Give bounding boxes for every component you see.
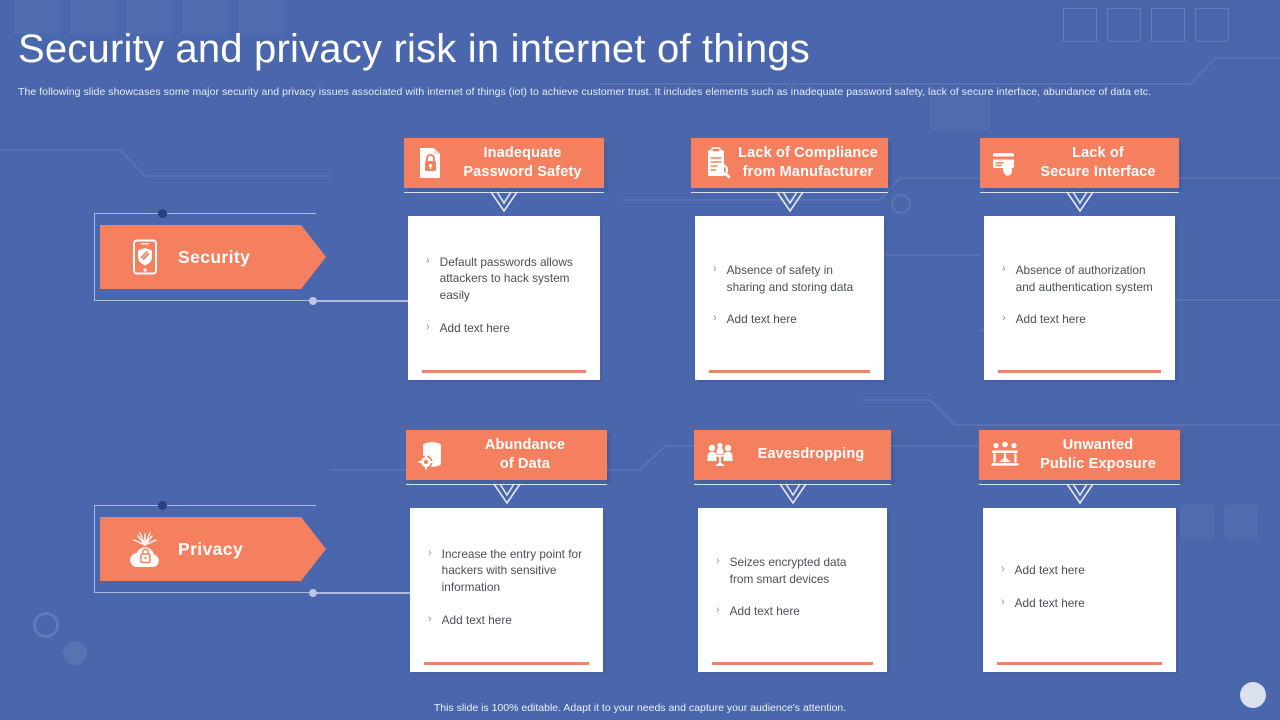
list-item-text: Add text here	[730, 603, 800, 620]
list-item-text: Default passwords allows attackers to ha…	[440, 254, 586, 304]
list-item: › Add text here	[1001, 562, 1162, 579]
card-header[interactable]: Inadequate Password Safety	[404, 138, 604, 188]
list-item: › Absence of safety in sharing and stori…	[713, 262, 870, 296]
background-square-1	[1063, 8, 1097, 42]
chevron-down-icon	[490, 482, 524, 506]
list-item-text: Seizes encrypted data from smart devices	[730, 554, 873, 588]
card-title-line-2: Password Safety	[463, 164, 581, 180]
card-title-line-1: Eavesdropping	[758, 446, 865, 462]
cloud-lock-icon	[118, 529, 172, 569]
chevron-down-icon	[1063, 190, 1097, 214]
list-item: › Add text here	[713, 311, 870, 328]
chevron-down-icon	[487, 190, 521, 214]
page-subtitle: The following slide showcases some major…	[18, 86, 1151, 98]
bullet-marker: ›	[428, 612, 432, 628]
chevron-down-icon	[1063, 482, 1097, 506]
card-body: › Absence of authorization and authentic…	[984, 216, 1175, 380]
clipboard-search-icon	[700, 146, 734, 180]
card-header[interactable]: Abundance of Data	[406, 430, 607, 480]
card-body: › Absence of safety in sharing and stori…	[695, 216, 884, 380]
list-item: › Add text here	[426, 320, 586, 337]
card-title: Lack of Secure Interface	[1023, 144, 1179, 182]
chevron-down-icon	[773, 190, 807, 214]
privacy-tab-dot-top	[158, 501, 167, 510]
sidebar-item-label: Security	[178, 247, 250, 268]
card-title-line-1: Inadequate	[483, 145, 561, 161]
list-item: › Absence of authorization and authentic…	[1002, 262, 1161, 296]
background-square-4	[1195, 8, 1229, 42]
privacy-tab-dot-bottom	[309, 589, 317, 597]
card-title-line-2: from Manufacturer	[743, 164, 874, 180]
list-item-text: Absence of authorization and authenticat…	[1016, 262, 1161, 296]
bullet-marker: ›	[1001, 595, 1005, 611]
list-item: › Add text here	[1001, 595, 1162, 612]
card-title: Abundance of Data	[449, 436, 607, 474]
database-gear-icon	[415, 438, 449, 472]
bullet-marker: ›	[716, 603, 720, 619]
bullet-marker: ›	[1001, 562, 1005, 578]
list-item: › Add text here	[428, 612, 589, 629]
card-title: Unwanted Public Exposure	[1022, 436, 1180, 474]
card-title-line-2: of Data	[500, 456, 550, 472]
background-soft-square-3	[930, 96, 990, 130]
page-title: Security and privacy risk in internet of…	[18, 27, 810, 71]
card-body: › Add text here › Add text here	[983, 508, 1176, 672]
card-header[interactable]: Lack of Compliance from Manufacturer	[691, 138, 888, 188]
card-header[interactable]: Unwanted Public Exposure	[979, 430, 1180, 480]
list-item-text: Add text here	[440, 320, 510, 337]
list-item: › Increase the entry point for hackers w…	[428, 546, 589, 596]
card-title-line-2: Public Exposure	[1040, 456, 1156, 472]
bullet-marker: ›	[1002, 311, 1006, 327]
privacy-tab-arrow[interactable]: Privacy	[100, 517, 326, 581]
list-item-text: Add text here	[1015, 562, 1085, 579]
list-item: › Add text here	[1002, 311, 1161, 328]
background-square-2	[1107, 8, 1141, 42]
card-body: › Seizes encrypted data from smart devic…	[698, 508, 887, 672]
list-item: › Add text here	[716, 603, 873, 620]
list-item-text: Absence of safety in sharing and storing…	[727, 262, 870, 296]
list-item-text: Increase the entry point for hackers wit…	[442, 546, 589, 596]
chevron-down-icon	[776, 482, 810, 506]
list-item-text: Add text here	[1016, 311, 1086, 328]
bullet-marker: ›	[426, 320, 430, 336]
background-soft-square-1	[1180, 505, 1214, 539]
document-lock-icon	[413, 146, 447, 180]
bullet-marker: ›	[716, 554, 720, 570]
people-listening-icon	[703, 438, 737, 472]
list-item: › Default passwords allows attackers to …	[426, 254, 586, 304]
background-soft-square-2	[1224, 505, 1258, 539]
card-body: › Increase the entry point for hackers w…	[410, 508, 603, 672]
security-tab-arrow[interactable]: Security	[100, 225, 326, 289]
list-item-text: Add text here	[442, 612, 512, 629]
background-ring	[33, 612, 59, 638]
card-title-line-1: Abundance	[485, 437, 565, 453]
background-filled-dot	[63, 641, 87, 665]
card-body: › Default passwords allows attackers to …	[408, 216, 600, 380]
sidebar-item-privacy[interactable]: Privacy	[94, 517, 326, 581]
smartphone-shield-icon	[118, 239, 172, 275]
card-title: Eavesdropping	[737, 445, 891, 464]
security-tab-dot-top	[158, 209, 167, 218]
card-title-line-1: Lack of Compliance	[738, 145, 878, 161]
security-tab-dot-bottom	[309, 297, 317, 305]
card-header[interactable]: Eavesdropping	[694, 430, 891, 480]
sidebar-item-label: Privacy	[178, 539, 243, 560]
card-title-line-2: Secure Interface	[1040, 164, 1155, 180]
list-item-text: Add text here	[727, 311, 797, 328]
bullet-marker: ›	[1002, 262, 1006, 278]
card-title: Lack of Compliance from Manufacturer	[734, 144, 888, 182]
list-item: › Seizes encrypted data from smart devic…	[716, 554, 873, 588]
card-hand-icon	[989, 146, 1023, 180]
card-header[interactable]: Lack of Secure Interface	[980, 138, 1179, 188]
sidebar-item-security[interactable]: Security	[94, 225, 326, 289]
card-title-line-1: Lack of	[1072, 145, 1124, 161]
card-title: Inadequate Password Safety	[447, 144, 604, 182]
bullet-marker: ›	[713, 262, 717, 278]
card-title-line-1: Unwanted	[1063, 437, 1133, 453]
footer-note: This slide is 100% editable. Adapt it to…	[0, 702, 1280, 714]
public-group-icon	[988, 438, 1022, 472]
list-item-text: Add text here	[1015, 595, 1085, 612]
bullet-marker: ›	[713, 311, 717, 327]
bullet-marker: ›	[426, 254, 430, 270]
bullet-marker: ›	[428, 546, 432, 562]
background-square-3	[1151, 8, 1185, 42]
